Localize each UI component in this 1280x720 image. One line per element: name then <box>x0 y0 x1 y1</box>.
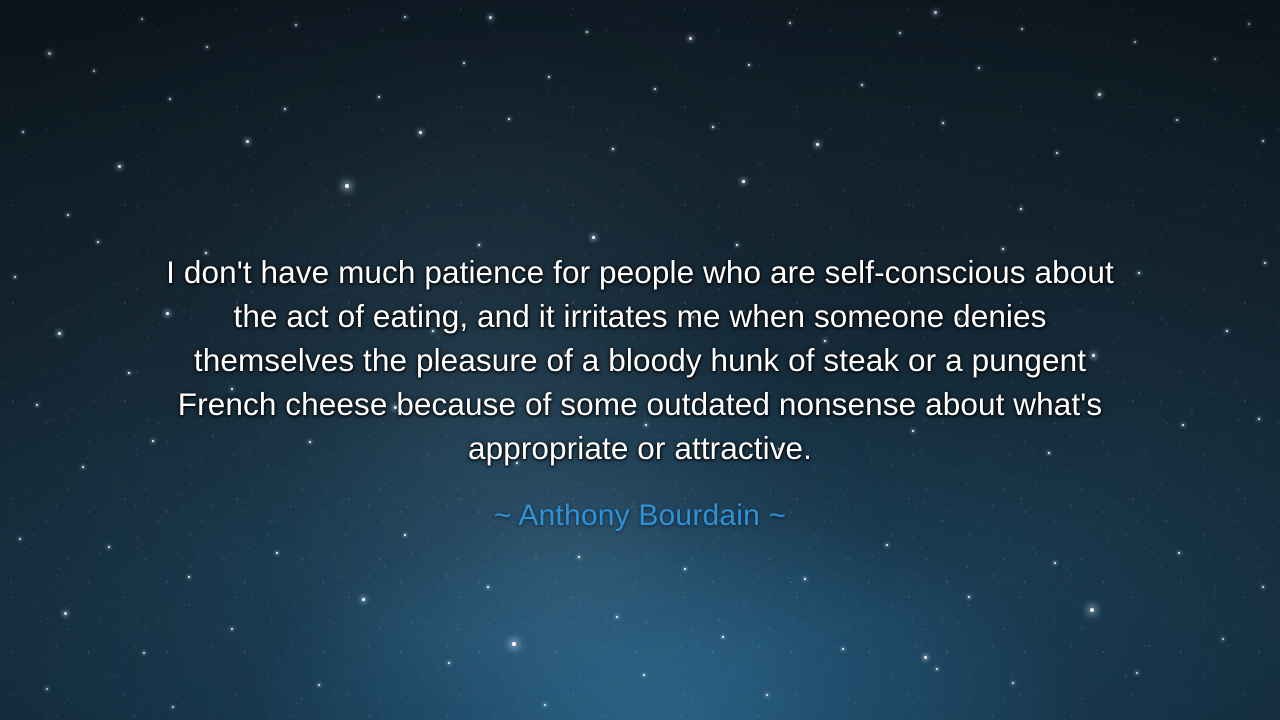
quote-block: I don't have much patience for people wh… <box>0 250 1280 470</box>
quote-attribution: ~ Anthony Bourdain ~ <box>0 498 1280 534</box>
quote-image-canvas: I don't have much patience for people wh… <box>0 0 1280 720</box>
quote-text: I don't have much patience for people wh… <box>46 250 1234 470</box>
